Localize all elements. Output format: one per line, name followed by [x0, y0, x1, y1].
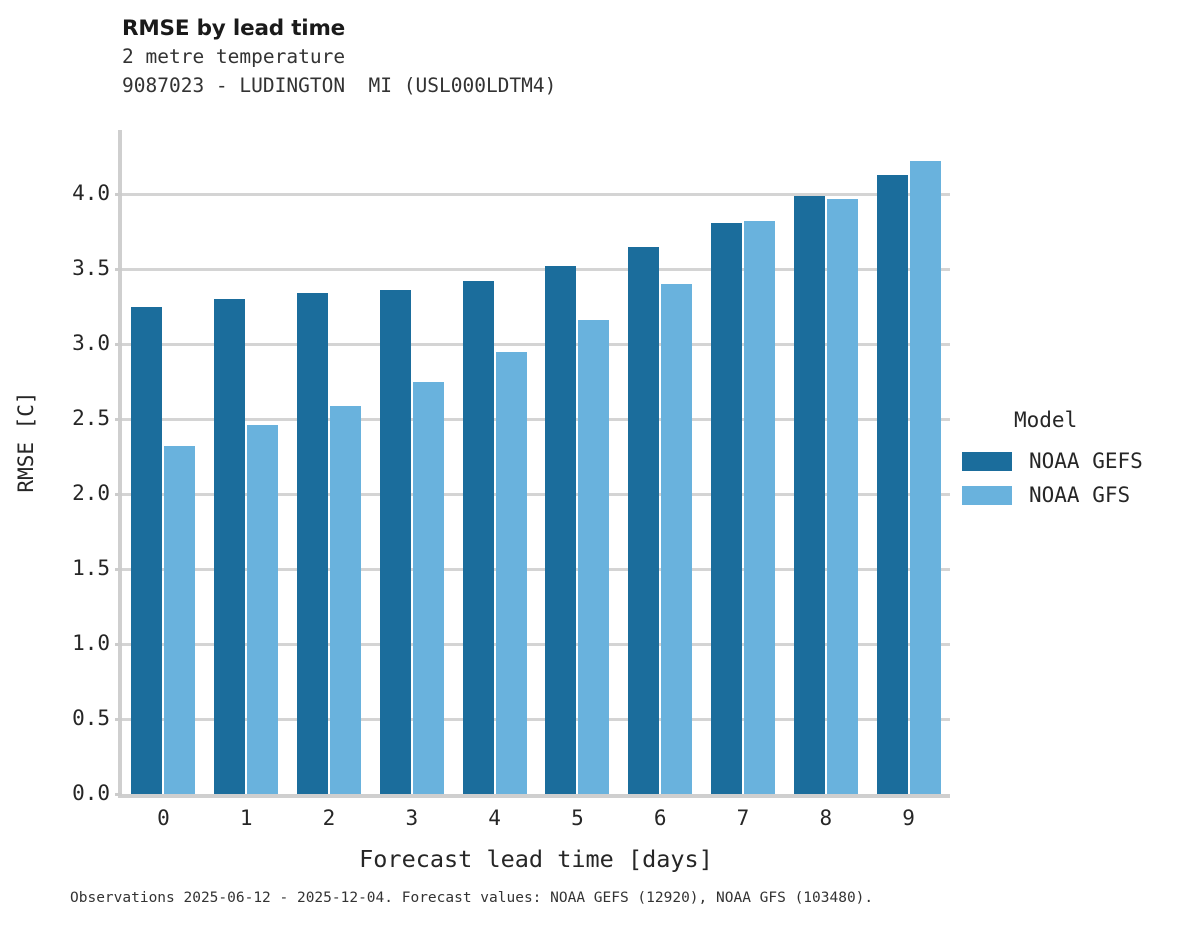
y-axis-tick	[115, 193, 122, 196]
gridline	[122, 418, 950, 421]
gridline	[122, 268, 950, 271]
legend-label: NOAA GFS	[1029, 483, 1130, 507]
bar-noaa-gefs-day-0	[131, 307, 162, 795]
x-axis-tick-label: 3	[382, 806, 442, 830]
x-axis-tick-label: 4	[465, 806, 525, 830]
bar-noaa-gefs-day-6	[628, 247, 659, 795]
y-axis-tick-label: 1.0	[72, 631, 110, 655]
plot-area	[122, 134, 950, 794]
y-axis-tick	[115, 343, 122, 346]
gridline	[122, 193, 950, 196]
bar-noaa-gefs-day-3	[380, 290, 411, 794]
bar-noaa-gefs-day-2	[297, 293, 328, 794]
bar-noaa-gfs-day-3	[413, 382, 444, 795]
x-axis-tick-label: 9	[879, 806, 939, 830]
y-axis-tick-label: 0.5	[72, 706, 110, 730]
x-axis-label: Forecast lead time [days]	[122, 845, 950, 873]
page-title: RMSE by lead time	[122, 16, 1022, 42]
y-axis-tick	[115, 793, 122, 796]
x-axis-tick-labels: 0123456789	[122, 806, 950, 838]
x-axis-tick-label: 6	[630, 806, 690, 830]
chart-subtitle: 2 metre temperature	[122, 42, 1022, 71]
bar-noaa-gefs-day-5	[545, 266, 576, 794]
x-axis-tick-label: 7	[713, 806, 773, 830]
legend-rows: NOAA GEFSNOAA GFS	[962, 444, 1182, 512]
chart-figure: RMSE by lead time 2 metre temperature 90…	[0, 0, 1188, 928]
chart-station-subtitle: 9087023 - LUDINGTON MI (USL000LDTM4)	[122, 71, 1022, 100]
x-axis-tick-label: 1	[216, 806, 276, 830]
bar-noaa-gfs-day-5	[578, 320, 609, 794]
gridline	[122, 718, 950, 721]
gridline	[122, 643, 950, 646]
legend-swatch	[962, 452, 1012, 471]
gridline	[122, 493, 950, 496]
title-block: RMSE by lead time 2 metre temperature 90…	[122, 16, 1022, 100]
bar-noaa-gefs-day-7	[711, 223, 742, 795]
legend-title: Model	[1014, 408, 1182, 432]
y-axis-tick-label: 3.0	[72, 331, 110, 355]
y-axis-tick-label: 0.0	[72, 781, 110, 805]
y-axis-tick-label: 4.0	[72, 181, 110, 205]
x-axis-tick-label: 5	[547, 806, 607, 830]
y-axis-tick-labels: 0.00.51.01.52.02.53.03.54.0	[38, 134, 110, 794]
gridline	[122, 343, 950, 346]
bar-noaa-gefs-day-1	[214, 299, 245, 794]
bar-noaa-gefs-day-9	[877, 175, 908, 795]
y-axis-tick	[115, 568, 122, 571]
legend-label: NOAA GEFS	[1029, 449, 1143, 473]
bar-noaa-gefs-day-8	[794, 196, 825, 795]
x-axis-tick-label: 2	[299, 806, 359, 830]
legend-item[interactable]: NOAA GFS	[962, 478, 1182, 512]
y-axis-tick	[115, 718, 122, 721]
y-axis-tick-label: 2.5	[72, 406, 110, 430]
y-axis-label: RMSE [C]	[14, 372, 38, 512]
y-axis-tick-label: 3.5	[72, 256, 110, 280]
footer-note: Observations 2025-06-12 - 2025-12-04. Fo…	[70, 890, 873, 906]
bar-noaa-gfs-day-4	[496, 352, 527, 795]
y-axis-tick-label: 1.5	[72, 556, 110, 580]
bar-noaa-gfs-day-6	[661, 284, 692, 794]
legend-item[interactable]: NOAA GEFS	[962, 444, 1182, 478]
bar-noaa-gfs-day-9	[910, 161, 941, 794]
bar-noaa-gfs-day-8	[827, 199, 858, 795]
gridline	[122, 568, 950, 571]
plot-inner	[122, 134, 950, 794]
x-axis-tick-label: 0	[133, 806, 193, 830]
bar-noaa-gfs-day-7	[744, 221, 775, 794]
x-axis-spine	[118, 794, 950, 798]
bar-noaa-gfs-day-0	[164, 446, 195, 794]
y-axis-tick	[115, 418, 122, 421]
bar-noaa-gefs-day-4	[463, 281, 494, 794]
y-axis-tick	[115, 493, 122, 496]
y-axis-tick	[115, 268, 122, 271]
bar-noaa-gfs-day-2	[330, 406, 361, 795]
y-axis-tick	[115, 643, 122, 646]
legend: Model NOAA GEFSNOAA GFS	[962, 408, 1182, 512]
y-axis-tick-label: 2.0	[72, 481, 110, 505]
x-axis-tick-label: 8	[796, 806, 856, 830]
bar-noaa-gfs-day-1	[247, 425, 278, 794]
legend-swatch	[962, 486, 1012, 505]
